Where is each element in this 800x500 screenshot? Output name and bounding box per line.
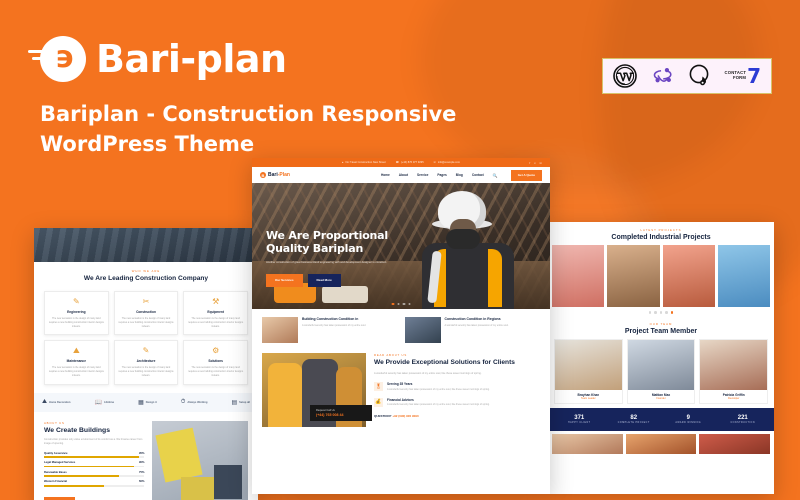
stat-label: Construction xyxy=(716,422,771,424)
feature-label: Always Working xyxy=(187,401,207,404)
layout-icon: ▤ xyxy=(231,399,237,406)
elementor-badge-icon xyxy=(689,64,711,88)
right-team-heading: OUR TEAM Project Team Member xyxy=(548,316,774,339)
service-card-label: Equipment xyxy=(187,310,244,314)
question-line[interactable]: QUESTION? +92 (090) 900 9090 xyxy=(374,414,540,418)
center-site-mockup[interactable]: ● No.7 East Construction New Street ☎ (+… xyxy=(252,158,550,494)
left-services-section: WHO WE ARE We Are Leading Construction C… xyxy=(34,262,258,393)
stat-number: 82 xyxy=(607,415,662,421)
brand-logo: ϶ Bari-plan xyxy=(40,36,287,82)
twitter-icon: x xyxy=(534,161,536,165)
team-member-card[interactable]: Patricia Griffin Developer xyxy=(699,339,768,404)
service-card-grid: ✎ Engineering The new sensation is the d… xyxy=(44,291,248,385)
request-call-label: Request Call Us xyxy=(316,409,366,412)
hero-banner: We Are Proportional Quality Bariplan Ano… xyxy=(252,183,550,309)
question-phone: +92 (090) 900 9090 xyxy=(392,414,418,418)
hero-copy: We Are Proportional Quality Bariplan Ano… xyxy=(266,229,426,287)
about-body: Construction provides only value environ… xyxy=(44,438,144,447)
right-project-gallery xyxy=(548,245,774,307)
book-icon: 📖 xyxy=(95,399,102,406)
tools-icon: ⚒ xyxy=(187,298,244,306)
avatar xyxy=(555,340,622,390)
request-call-phone: (+44) 765 008 44 xyxy=(316,413,366,417)
projects-title: Completed Industrial Projects xyxy=(556,234,766,241)
navbar-logo[interactable]: B Bari-Plan xyxy=(260,172,290,178)
service-card-desc: The new sensation is the design of many … xyxy=(48,366,105,378)
gallery-image[interactable] xyxy=(552,434,623,454)
service-card-label: Architecture xyxy=(118,359,175,363)
blueprint-icon: ✎ xyxy=(118,347,175,355)
navbar-logo-word-1: Bari xyxy=(268,172,278,178)
logo-monogram: ϶ xyxy=(55,43,74,73)
wordpress-badge-icon xyxy=(613,64,637,88)
gear-icon: ⚙ xyxy=(187,347,244,355)
page-title: Bariplan - Construction Responsive WordP… xyxy=(40,100,460,160)
linkedin-icon: in xyxy=(540,161,542,165)
request-call-box[interactable]: Request Call Us (+44) 765 008 44 xyxy=(310,405,372,422)
stat-label: Complete Project xyxy=(607,422,662,424)
contact-form-7-badge-icon: CONTACT FORM 7 xyxy=(725,68,761,84)
feature-card-desc: A wonderful serenity has taken possessio… xyxy=(302,324,366,328)
skill-bar: Renewable Bases75% xyxy=(44,471,144,477)
solutions-eyebrow: READ ABOUT US xyxy=(374,353,540,357)
solutions-feature-title: Financial Advices xyxy=(387,398,490,402)
service-card[interactable]: ✂ Construction The new sensation is the … xyxy=(114,291,179,336)
team-eyebrow: OUR TEAM xyxy=(556,322,766,326)
stat-item: 9 Award Winning xyxy=(661,415,716,425)
feature-label: Design it xyxy=(146,401,157,404)
redux-badge-icon xyxy=(651,65,675,87)
clock-icon: ⏱ xyxy=(181,399,186,406)
menu-item-pages[interactable]: Pages xyxy=(437,173,446,177)
skill-value: 90% xyxy=(139,461,144,464)
team-member-card[interactable]: Brayhan Khan Team Leader xyxy=(554,339,623,404)
speed-lines-icon xyxy=(28,50,50,64)
navbar-logo-icon: B xyxy=(260,172,266,178)
logo-wordmark: Bari-plan xyxy=(96,37,287,81)
team-member-name: Brayhan Khan xyxy=(555,390,622,397)
skill-bar: Western Financial60% xyxy=(44,480,144,486)
feature-card-title: Construction Condition in Regions xyxy=(445,317,509,322)
hero-secondary-button[interactable]: Read More xyxy=(308,274,341,287)
section-title: We Are Leading Construction Company xyxy=(44,275,248,284)
service-card[interactable]: ⛰ Maintenance The new sensation is the d… xyxy=(44,340,109,385)
service-card[interactable]: ✎ Engineering The new sensation is the d… xyxy=(44,291,109,336)
site-navbar: B Bari-Plan Home About Service Pages Blo… xyxy=(252,167,550,183)
cf7-numeral: 7 xyxy=(747,68,761,84)
service-card-label: Construction xyxy=(118,310,175,314)
email-item[interactable]: ✉ info@example.com xyxy=(434,161,460,164)
right-site-mockup[interactable]: LATEST PROJECTS Completed Industrial Pro… xyxy=(548,222,774,494)
team-member-role: Founder xyxy=(628,397,695,403)
feature-card-thumb xyxy=(405,317,441,343)
service-card[interactable]: ⚙ Solutions The new sensation is the des… xyxy=(183,340,248,385)
team-member-name: Mattian Max xyxy=(628,390,695,397)
gallery-image[interactable] xyxy=(663,245,715,307)
hero-carousel-dots[interactable] xyxy=(392,303,411,306)
projects-eyebrow: LATEST PROJECTS xyxy=(556,228,766,232)
left-site-mockup[interactable]: WHO WE ARE We Are Leading Construction C… xyxy=(34,228,258,500)
right-projects-heading: LATEST PROJECTS Completed Industrial Pro… xyxy=(548,222,774,245)
gallery-image[interactable] xyxy=(718,245,770,307)
hero-primary-button[interactable]: Our Services xyxy=(266,274,303,287)
paint-brush-icon: ✂ xyxy=(118,298,175,306)
gallery-image[interactable] xyxy=(552,245,604,307)
top-utility-bar: ● No.7 East Construction New Street ☎ (+… xyxy=(252,158,550,167)
service-card-desc: The new sensation is the design of many … xyxy=(48,317,105,329)
gallery-image[interactable] xyxy=(626,434,697,454)
skill-value: 75% xyxy=(139,471,144,474)
building-icon: ⛰ xyxy=(42,399,47,406)
hero-title: We Are Proportional Quality Bariplan xyxy=(266,229,426,256)
solutions-feature: 💰 Financial AdvicesA wonderful serenity … xyxy=(374,398,540,407)
skill-value: 95% xyxy=(139,452,144,455)
service-card-desc: The new sensation is the design of many … xyxy=(187,317,244,329)
helmet-icon: ⛰ xyxy=(48,347,105,355)
hero-buttons: Our Services Read More xyxy=(266,274,426,287)
menu-item-home[interactable]: Home xyxy=(381,173,390,177)
service-card-desc: The new sensation is the design of many … xyxy=(118,366,175,378)
solutions-section: Request Call Us (+44) 765 008 44 READ AB… xyxy=(252,349,550,435)
team-title: Project Team Member xyxy=(556,328,766,335)
search-icon[interactable]: 🔍 xyxy=(493,173,498,178)
facebook-icon: f xyxy=(529,161,530,165)
grid-icon: ▦ xyxy=(138,399,144,406)
feature-card[interactable]: Building Construction Condition inA wond… xyxy=(262,317,398,343)
about-eyebrow: ABOUT US xyxy=(44,421,144,425)
feature-card-thumb xyxy=(262,317,298,343)
promo-banner: ϶ Bari-plan Bariplan - Construction Resp… xyxy=(0,0,800,500)
service-card[interactable]: ⚒ Equipment The new sensation is the des… xyxy=(183,291,248,336)
menu-item-contact[interactable]: Contact xyxy=(472,173,484,177)
stat-number: 9 xyxy=(661,415,716,421)
hero-worker-photo xyxy=(412,189,530,309)
pencil-ruler-icon: ✎ xyxy=(48,298,105,306)
award-icon: 🎖 xyxy=(374,382,383,391)
solutions-feature-title: Serving 35 Years xyxy=(387,382,490,386)
feature-label: Lifetime xyxy=(104,401,114,404)
feature-item[interactable]: 📖Lifetime xyxy=(95,399,114,406)
menu-item-service[interactable]: Service xyxy=(417,173,428,177)
service-card[interactable]: ✎ Architecture The new sensation is the … xyxy=(114,340,179,385)
stat-number: 371 xyxy=(552,415,607,421)
skill-label: Renewable Bases xyxy=(44,471,67,474)
service-card-label: Solutions xyxy=(187,359,244,363)
solutions-feature-desc: A wonderful serenity has taken possessio… xyxy=(387,388,490,392)
solutions-feature: 🎖 Serving 35 YearsA wonderful serenity h… xyxy=(374,382,540,391)
team-member-name: Patricia Griffin xyxy=(700,390,767,397)
feature-card-title: Building Construction Condition in xyxy=(302,317,366,322)
skill-bar: Legal Managed Services90% xyxy=(44,461,144,467)
avatar xyxy=(700,340,767,390)
question-label: QUESTION? xyxy=(374,414,392,418)
navbar-logo-word-2: -Plan xyxy=(278,172,290,178)
solutions-title: We Provide Exceptional Solutions for Cli… xyxy=(374,359,540,368)
avatar xyxy=(628,340,695,390)
skill-label: Quality Assurance xyxy=(44,452,68,455)
gallery-image[interactable] xyxy=(607,245,659,307)
solutions-feature-desc: A wonderful serenity has taken possessio… xyxy=(387,403,490,407)
skill-label: Western Financial xyxy=(44,480,67,483)
skill-value: 60% xyxy=(139,480,144,483)
coins-icon: 💰 xyxy=(374,398,383,407)
service-card-desc: The new sensation is the design of many … xyxy=(187,366,244,378)
feature-item[interactable]: ⛰Home Decoration xyxy=(42,399,71,406)
team-member-role: Developer xyxy=(700,397,767,403)
about-image xyxy=(152,421,248,500)
team-member-role: Team Leader xyxy=(555,397,622,403)
gallery-carousel-dots[interactable] xyxy=(548,307,774,316)
skill-bar: Quality Assurance95% xyxy=(44,452,144,458)
team-member-card[interactable]: Mattian Max Founder xyxy=(627,339,696,404)
menu-item-blog[interactable]: Blog xyxy=(456,173,463,177)
feature-card[interactable]: Construction Condition in RegionsA wonde… xyxy=(405,317,541,343)
stat-label: Happy Client xyxy=(552,422,607,424)
left-hero-image xyxy=(34,228,258,262)
phone-item[interactable]: ☎ (+44) 876 077 9295 xyxy=(396,161,424,164)
cf7-line-2: FORM xyxy=(725,76,747,81)
menu-item-about[interactable]: About xyxy=(399,173,408,177)
feature-label: Home Decoration xyxy=(49,401,70,404)
stats-bar: 371 Happy Client 82 Complete Project 9 A… xyxy=(548,408,774,432)
service-card-label: Engineering xyxy=(48,310,105,314)
hero-body: Another construction of great business b… xyxy=(266,261,396,266)
skill-label: Legal Managed Services xyxy=(44,461,75,464)
bariplan-circle-p-icon: ϶ xyxy=(40,36,86,82)
service-card-label: Maintenance xyxy=(48,359,105,363)
left-about-section: ABOUT US We Create Buildings Constructio… xyxy=(34,412,258,500)
solutions-desc: A wonderful serenity has taken possessio… xyxy=(374,372,540,376)
stat-item: 82 Complete Project xyxy=(607,415,662,425)
stat-label: Award Winning xyxy=(661,422,716,424)
feature-item[interactable]: ⏱Always Working xyxy=(181,399,208,406)
primary-menu: Home About Service Pages Blog Contact 🔍 … xyxy=(381,170,542,181)
plugin-badge-bar: CONTACT FORM 7 xyxy=(602,58,772,94)
team-member-row: Brayhan Khan Team Leader Mattian Max Fou… xyxy=(548,339,774,408)
social-links[interactable]: fxin xyxy=(529,161,542,165)
service-card-desc: The new sensation is the design of many … xyxy=(118,317,175,329)
about-title: We Create Buildings xyxy=(44,427,144,434)
feature-cards-row: Building Construction Condition inA wond… xyxy=(252,309,550,349)
feature-card-desc: A wonderful serenity has taken possessio… xyxy=(445,324,509,328)
read-more-button[interactable]: Read More xyxy=(44,497,75,500)
section-eyebrow: WHO WE ARE xyxy=(44,269,248,273)
stat-item: 371 Happy Client xyxy=(552,415,607,425)
stat-number: 221 xyxy=(716,415,771,421)
feature-item[interactable]: ▦Design it xyxy=(138,399,157,406)
feature-label: Setup all xyxy=(239,401,250,404)
left-feature-iconbar: ⛰Home Decoration 📖Lifetime ▦Design it ⏱A… xyxy=(34,393,258,412)
address-item: ● No.7 East Construction New Street xyxy=(342,161,386,164)
right-bottom-gallery xyxy=(548,431,774,454)
get-a-quote-button[interactable]: Get A Quote xyxy=(511,170,542,181)
feature-item[interactable]: ▤Setup all xyxy=(231,399,249,406)
stat-item: 221 Construction xyxy=(716,415,771,425)
gallery-image[interactable] xyxy=(699,434,770,454)
